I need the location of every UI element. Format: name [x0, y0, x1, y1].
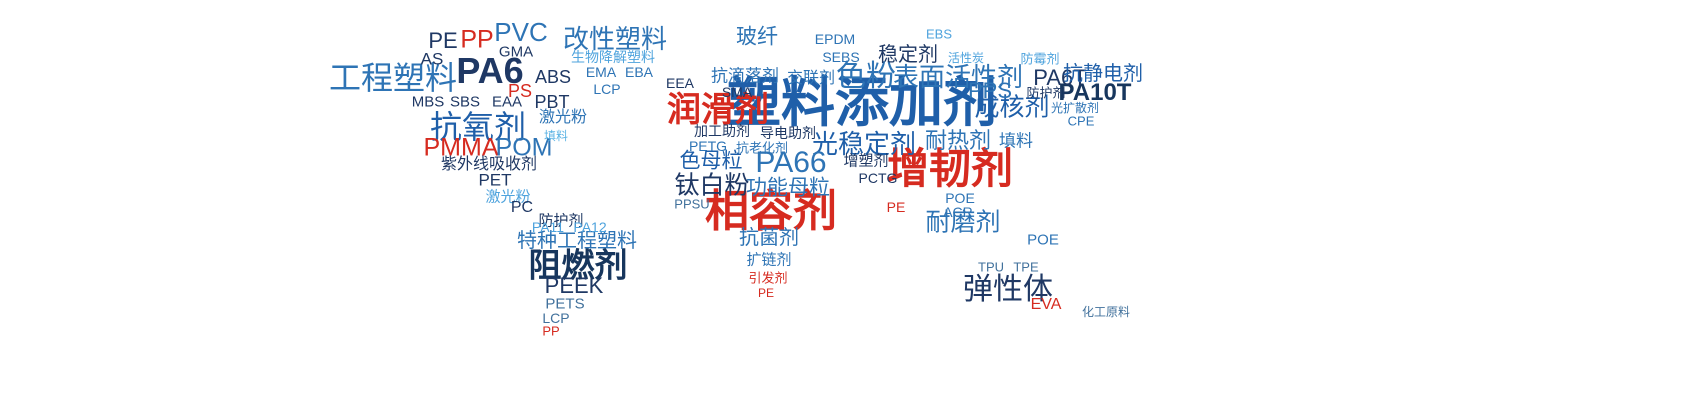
word-cloud-term[interactable]: ABS [535, 68, 571, 86]
word-cloud-term[interactable]: TPE [1013, 261, 1038, 274]
word-cloud-term[interactable]: AS [421, 51, 444, 68]
word-cloud-term[interactable]: PEEK [545, 275, 604, 297]
word-cloud-term[interactable]: 玻纤 [736, 27, 778, 48]
word-cloud-term[interactable]: EEA [666, 76, 694, 90]
word-cloud-term[interactable]: 填料 [999, 133, 1033, 150]
word-cloud-term[interactable]: PA12 [573, 220, 606, 234]
word-cloud-term[interactable]: EBA [625, 65, 653, 79]
word-cloud-term[interactable]: SMA [722, 85, 752, 99]
word-cloud-term[interactable]: PE [887, 200, 906, 214]
word-cloud-term[interactable]: 化工原料 [1082, 306, 1130, 318]
word-cloud-term[interactable]: 光扩散剂 [1051, 102, 1099, 114]
word-cloud-canvas: 塑料添加剂相容剂增韧剂润滑剂阻燃剂工程塑料抗氧剂PA6色粉改性塑料表面活性剂光稳… [0, 0, 1707, 400]
word-cloud-term[interactable]: 加工助剂 [694, 124, 750, 138]
word-cloud-term[interactable]: GMA [499, 45, 533, 60]
word-cloud-term[interactable]: TPU [978, 261, 1004, 274]
word-cloud-term[interactable]: 活性炭 [948, 52, 984, 64]
word-cloud-term[interactable]: 引发剂 [748, 272, 787, 285]
word-cloud-term[interactable]: MBS [412, 95, 445, 110]
word-cloud-term[interactable]: EPDM [815, 32, 855, 46]
word-cloud-term[interactable]: 抗菌剂 [739, 228, 799, 248]
word-cloud-term[interactable]: PPSU [674, 198, 709, 211]
word-cloud-term[interactable]: PVC [494, 19, 547, 45]
word-cloud-term[interactable]: PC [511, 200, 533, 216]
word-cloud-term[interactable]: 填料 [544, 130, 568, 142]
word-cloud-term[interactable]: 稳定剂 [878, 45, 938, 65]
word-cloud-term[interactable]: PCTG [859, 171, 898, 185]
word-cloud-term[interactable]: 增塑剂 [843, 154, 888, 169]
word-cloud-term[interactable]: ACR [943, 205, 973, 219]
word-cloud-term[interactable]: EMA [586, 65, 616, 79]
word-cloud-term[interactable]: 生物降解塑料 [571, 50, 655, 64]
word-cloud-term[interactable]: CPE [1068, 115, 1095, 128]
word-cloud-term[interactable]: SEBS [822, 50, 859, 64]
word-cloud-term[interactable]: POE [945, 191, 975, 205]
word-cloud-term[interactable]: 扩链剂 [746, 253, 791, 268]
word-cloud-term[interactable]: 防护剂 [1026, 87, 1065, 100]
word-cloud-term[interactable]: 防霉剂 [1020, 53, 1059, 66]
word-cloud-term[interactable]: 色粉 [836, 62, 896, 92]
word-cloud-term[interactable]: 抗静电剂 [1063, 64, 1143, 84]
word-cloud-term[interactable]: PPS [968, 80, 1012, 102]
word-cloud-term[interactable]: PE [758, 287, 774, 299]
word-cloud-term[interactable]: EAA [492, 95, 522, 110]
word-cloud-term[interactable]: EVA [1031, 297, 1062, 313]
word-cloud-term[interactable]: POE [1027, 233, 1059, 248]
word-cloud-term[interactable]: 抗滴落剂 [711, 68, 779, 85]
word-cloud-term[interactable]: 耐热剂 [925, 130, 991, 152]
word-cloud-term[interactable]: 交联剂 [787, 71, 835, 87]
word-cloud-term[interactable]: PP [460, 28, 493, 53]
word-cloud-term[interactable]: 抗老化剂 [736, 142, 788, 155]
word-cloud-term[interactable]: 功能母粒 [746, 178, 830, 199]
word-cloud-term[interactable]: 钛白粉 [674, 174, 749, 199]
word-cloud-term[interactable]: PP [542, 325, 559, 338]
word-cloud-term[interactable]: 导电助剂 [760, 126, 816, 140]
word-cloud-term[interactable]: PA11 [532, 220, 564, 234]
word-cloud-term[interactable]: LCP [593, 82, 620, 96]
word-cloud-term[interactable]: 激光粉 [539, 110, 587, 126]
word-cloud-term[interactable]: 润滑剂 [667, 93, 769, 127]
word-cloud-term[interactable]: SBS [450, 95, 480, 110]
word-cloud-term[interactable]: PETG [689, 139, 727, 153]
word-cloud-term[interactable]: EBS [926, 28, 952, 41]
word-cloud-term[interactable]: PET [478, 172, 511, 189]
